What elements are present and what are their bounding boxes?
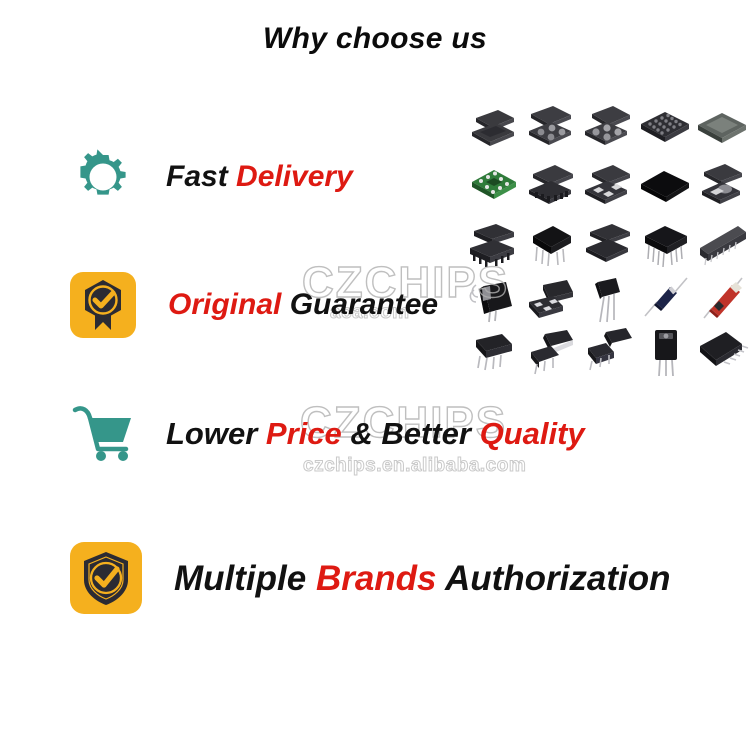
- feature-label-fast-delivery: Fast Delivery: [166, 162, 353, 192]
- feature-segment: Fast: [166, 160, 236, 193]
- feature-segment-highlight: Price: [266, 416, 342, 451]
- shield-check-icon: [70, 542, 142, 614]
- chip-opened-package-module: [694, 156, 750, 212]
- feature-segment: & Better: [342, 416, 480, 451]
- chip-green-pcb-module: [466, 156, 522, 212]
- badge-check-icon: [70, 272, 136, 338]
- chip-dfn-package-pair: [523, 272, 579, 328]
- feature-segment-highlight: Brands: [316, 559, 437, 598]
- chip-qfn-leadframe-package: [523, 156, 579, 212]
- chip-lga-package-pair: [580, 156, 636, 212]
- feature-segment: Guarantee: [290, 288, 438, 321]
- chip-zener-diode-red: [694, 272, 750, 328]
- feature-segment: Lower: [166, 416, 266, 451]
- chip-tssop-package: [694, 324, 750, 380]
- chip-sot-89-package: [523, 324, 579, 380]
- feature-label-lower-price-better-quality: Lower Price & Better Quality: [166, 418, 585, 449]
- chip-axial-diode: [637, 272, 693, 328]
- feature-row-fast-delivery: Fast Delivery: [74, 148, 353, 206]
- gear-icon: [74, 148, 132, 206]
- feature-row-lower-price-better-quality: Lower Price & Better Quality: [70, 402, 585, 464]
- page-title: Why choose us: [0, 22, 750, 56]
- chip-bga-solder-ball-package: [580, 98, 636, 154]
- chip-flip-chip-heatspreader: [694, 98, 750, 154]
- feature-segment: Authorization: [437, 559, 671, 598]
- chip-collage-image: [466, 98, 750, 380]
- chip-sot-23-package-pair: [580, 324, 636, 380]
- why-choose-us-banner: Why choose us: [0, 0, 750, 750]
- feature-row-original-guarantee: Original Guarantee: [70, 272, 438, 338]
- feature-segment: Multiple: [174, 559, 316, 598]
- chip-black-qfp-die: [637, 156, 693, 212]
- chip-dip-14-package: [637, 214, 693, 270]
- chip-qfn-package-stack: [466, 98, 522, 154]
- chip-bga-ball-grid-array: [637, 98, 693, 154]
- chip-bga-bumped-package: [523, 98, 579, 154]
- feature-segment-highlight: Delivery: [236, 160, 353, 193]
- chip-to-92-transistor: [580, 272, 636, 328]
- chip-dip-8-package: [523, 214, 579, 270]
- chip-qfp-flat-package: [580, 214, 636, 270]
- chip-sip-module: [694, 214, 750, 270]
- feature-segment-highlight: Original: [168, 288, 290, 321]
- feature-row-multiple-brands-authorization: Multiple Brands Authorization: [70, 542, 670, 614]
- chip-to-126-transistor: [637, 324, 693, 380]
- chip-sot-223-package: [466, 324, 522, 380]
- shopping-cart-icon: [70, 402, 136, 464]
- feature-label-multiple-brands-authorization: Multiple Brands Authorization: [174, 561, 670, 596]
- feature-segment-highlight: Quality: [480, 416, 585, 451]
- feature-label-original-guarantee: Original Guarantee: [168, 290, 438, 320]
